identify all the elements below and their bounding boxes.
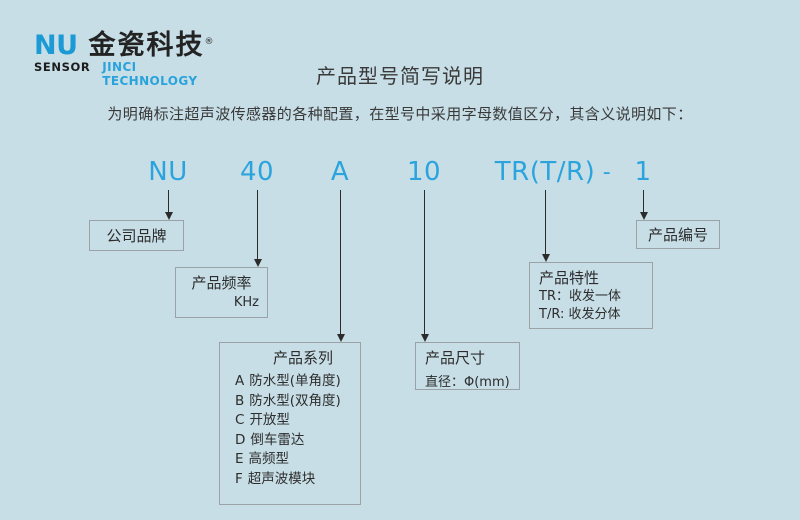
model-part-character: TR(T/R): [495, 157, 595, 187]
logo-chinese-text: 金瓷科技: [89, 30, 205, 61]
model-part-separator: -: [603, 160, 611, 185]
list-item: F超声波模块: [235, 470, 360, 490]
callout-brand: 公司品牌: [89, 220, 184, 251]
callout-code: 产品编号: [636, 220, 720, 249]
series-name: 超声波模块: [248, 471, 316, 487]
connector-character: [545, 190, 546, 255]
callout-character-title: 产品特性: [539, 267, 652, 288]
callout-character-line1: TR：收发一体: [539, 288, 652, 306]
series-name: 高频型: [249, 451, 290, 467]
callout-frequency-unit: KHz: [184, 295, 259, 310]
logo-nu-mark: NU: [34, 32, 78, 59]
list-item: A防水型(单角度): [235, 372, 360, 392]
diagram-canvas: NU 金瓷科技 ® SENSOR JINCI TECHNOLOGY 产品型号简写…: [0, 0, 800, 520]
series-name: 倒车雷达: [250, 432, 304, 448]
callout-series: 产品系列 A防水型(单角度) B防水型(双角度) C开放型 D倒车雷达 E高频型…: [219, 342, 361, 505]
model-part-brand: NU: [148, 157, 187, 187]
connector-frequency: [257, 190, 258, 260]
list-item: B防水型(双角度): [235, 392, 360, 412]
series-name: 开放型: [249, 412, 290, 428]
callout-size-detail: 直径：Φ(mm): [425, 371, 510, 390]
model-part-code: 1: [634, 157, 651, 187]
series-code: A: [235, 373, 244, 389]
callout-size: 产品尺寸 直径：Φ(mm): [415, 342, 520, 390]
series-code: D: [235, 432, 245, 448]
series-code: F: [235, 471, 243, 487]
callout-character: 产品特性 TR：收发一体 T/R: 收发分体: [529, 262, 653, 329]
logo-chinese-name: 金瓷科技 ®: [89, 32, 205, 59]
series-code: B: [235, 393, 244, 409]
callout-character-line2: T/R: 收发分体: [539, 306, 652, 324]
connector-code: [643, 190, 644, 213]
model-part-series: A: [331, 157, 349, 187]
series-code: E: [235, 451, 244, 467]
logo-top-row: NU 金瓷科技 ®: [34, 32, 234, 59]
list-item: D倒车雷达: [235, 431, 360, 451]
callout-size-title: 产品尺寸: [425, 347, 510, 368]
series-name: 防水型(单角度): [249, 373, 341, 389]
callout-frequency-title: 产品频率: [184, 272, 259, 293]
series-list: A防水型(单角度) B防水型(双角度) C开放型 D倒车雷达 E高频型 F超声波…: [220, 372, 360, 489]
connector-size: [424, 190, 425, 335]
list-item: C开放型: [235, 411, 360, 431]
registered-trademark-icon: ®: [205, 29, 216, 56]
connector-series: [340, 190, 341, 335]
page-title: 产品型号简写说明: [0, 60, 800, 89]
model-part-size: 10: [407, 157, 441, 187]
list-item: E高频型: [235, 450, 360, 470]
callout-brand-title: 公司品牌: [106, 225, 166, 246]
series-name: 防水型(双角度): [249, 393, 341, 409]
connector-brand: [168, 190, 169, 213]
callout-series-title: 产品系列: [220, 347, 360, 368]
series-code: C: [235, 412, 244, 428]
page-subtitle: 为明确标注超声波传感器的各种配置，在型号中采用字母数值区分，其含义说明如下：: [0, 103, 800, 124]
callout-code-title: 产品编号: [648, 224, 708, 245]
model-part-frequency: 40: [240, 157, 274, 187]
callout-frequency: 产品频率 KHz: [175, 267, 268, 318]
